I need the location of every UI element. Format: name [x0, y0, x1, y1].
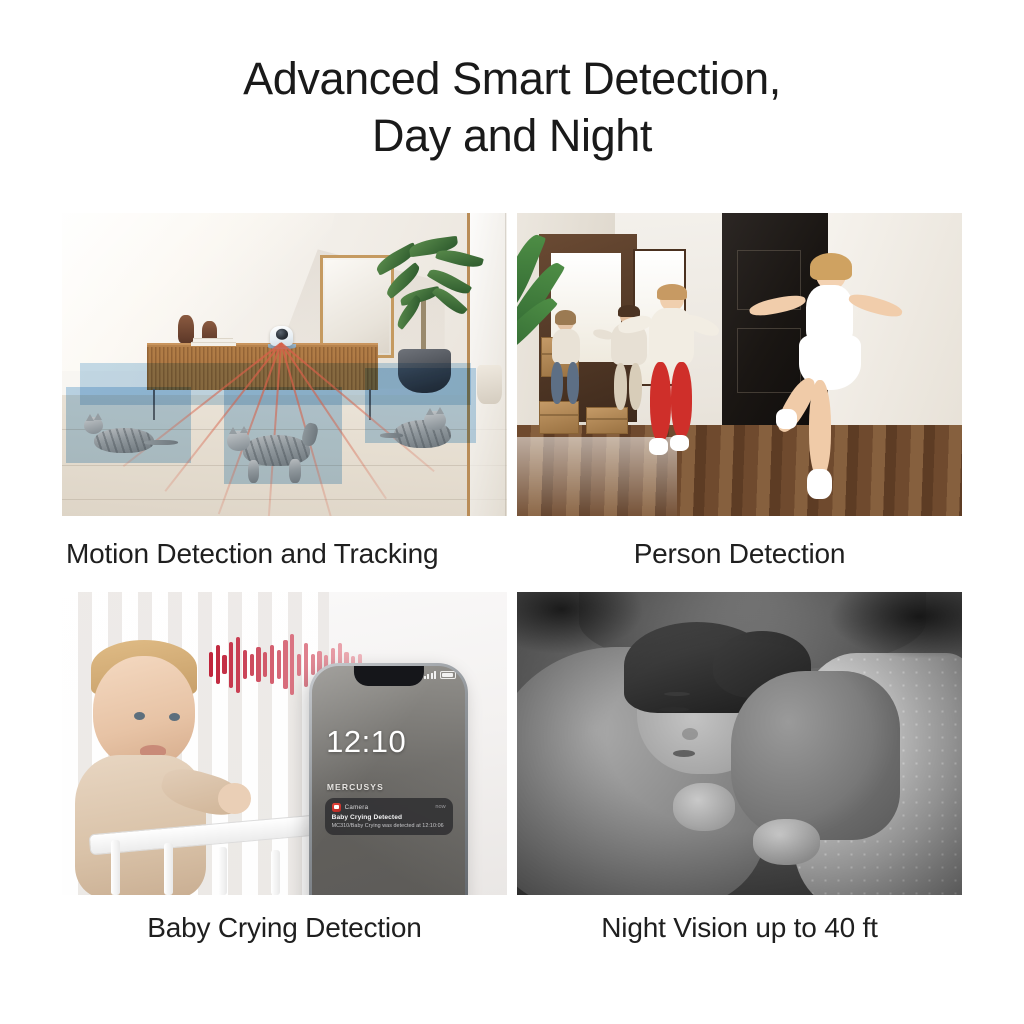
- camera-lens-icon: [276, 329, 288, 339]
- waveform-bar: [277, 650, 281, 680]
- waveform-bar: [283, 640, 287, 689]
- crib-bar-1: [111, 840, 120, 895]
- moving-box-floor-2: [586, 407, 628, 434]
- sock-boy-left: [649, 438, 668, 454]
- page-title: Advanced Smart Detection, Day and Night: [0, 50, 1024, 164]
- phone-status-bar: [424, 671, 456, 679]
- notification-app-name: Camera: [345, 804, 432, 811]
- waveform-bar: [290, 634, 294, 695]
- notification-header: Camera now: [332, 803, 446, 812]
- moving-box-floor-1: [539, 401, 579, 434]
- sock-girl-down: [807, 469, 832, 499]
- lock-screen-clock: 12:10: [326, 724, 406, 760]
- caption-person-detection: Person Detection: [517, 516, 962, 592]
- person-child-girl: [766, 255, 891, 503]
- page-title-line-1: Advanced Smart Detection,: [0, 50, 1024, 107]
- battery-icon: [440, 671, 456, 679]
- caption-motion-detection: Motion Detection and Tracking: [62, 516, 507, 592]
- baby-eye-right: [169, 713, 180, 721]
- plant-trunk: [421, 298, 427, 353]
- crib-bar-3: [218, 847, 227, 895]
- cat-left: [80, 413, 178, 461]
- night-vignette: [517, 592, 962, 895]
- notification-body: MC310/Baby Crying was detected at 12:10:…: [332, 823, 446, 829]
- sock-girl-up: [776, 409, 797, 429]
- camera-app-icon: [332, 803, 341, 812]
- signal-bars-icon: [424, 671, 436, 679]
- cat-right: [378, 407, 467, 455]
- phone-screen[interactable]: 12:10 MERCUSYS Camera now Baby Crying De…: [312, 666, 464, 895]
- crib-bar-2: [164, 843, 173, 895]
- hallway-scene: [517, 213, 962, 516]
- smartphone[interactable]: 12:10 MERCUSYS Camera now Baby Crying De…: [309, 663, 467, 895]
- waveform-bar: [304, 643, 308, 687]
- person-child-boy: [633, 286, 713, 468]
- living-room-scene: [62, 213, 507, 516]
- notification-title: Baby Crying Detected: [332, 814, 446, 821]
- baby-hand: [218, 783, 251, 814]
- waveform-bar: [297, 654, 301, 676]
- app-group-label: MERCUSYS: [327, 782, 384, 792]
- cat-center: [222, 419, 338, 486]
- product-feature-page: Advanced Smart Detection, Day and Night: [0, 0, 1024, 1024]
- vase-tall: [178, 315, 194, 344]
- motion-detection-image: [62, 213, 507, 516]
- feature-grid: Motion Detection and Tracking Person Det…: [62, 213, 962, 961]
- phone-notch: [354, 666, 424, 686]
- baby-eye-left: [134, 712, 145, 720]
- person-mother: [546, 313, 586, 404]
- book-stack-lower: [191, 342, 236, 346]
- baby-crying-detection-image: 12:10 MERCUSYS Camera now Baby Crying De…: [62, 592, 507, 895]
- notification-time: now: [435, 804, 445, 810]
- sock-boy-right: [670, 435, 689, 451]
- crib-bar-4: [271, 850, 280, 895]
- night-vision-image: [517, 592, 962, 895]
- page-title-line-2: Day and Night: [0, 107, 1024, 164]
- side-vase: [477, 365, 501, 404]
- person-detection-image: [517, 213, 962, 516]
- caption-baby-crying-detection: Baby Crying Detection: [62, 895, 507, 961]
- nursery-scene: 12:10 MERCUSYS Camera now Baby Crying De…: [62, 592, 507, 895]
- night-vision-scene: [517, 592, 962, 895]
- notification-card[interactable]: Camera now Baby Crying Detected MC310/Ba…: [325, 798, 453, 835]
- caption-night-vision: Night Vision up to 40 ft: [517, 895, 962, 961]
